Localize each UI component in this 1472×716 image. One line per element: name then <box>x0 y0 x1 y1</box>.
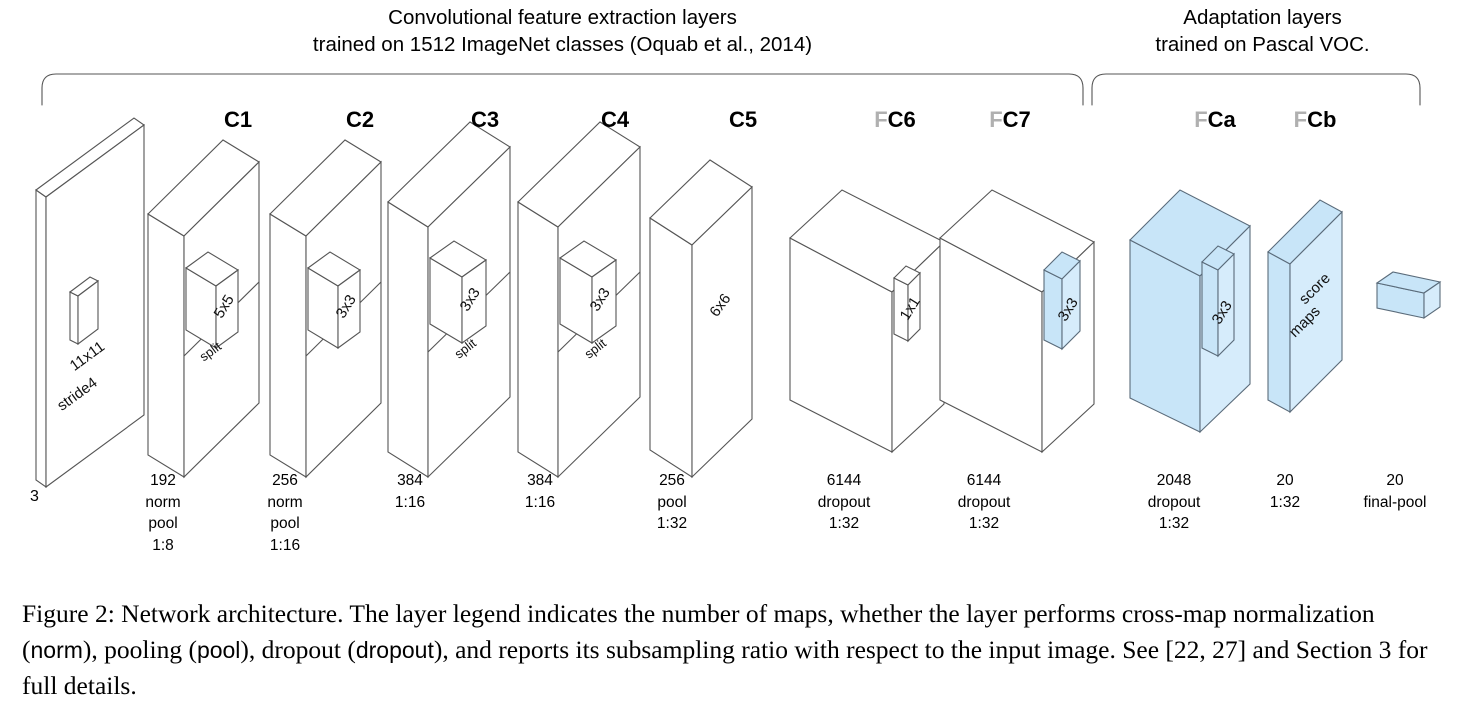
conv-header-line1: Convolutional feature extraction layers <box>290 4 835 31</box>
layer-legend-final: 20 final-pool <box>1345 470 1445 513</box>
layer-label-c1-text: C1 <box>224 107 252 132</box>
layer-slab-c1: 5x5 split <box>148 140 259 477</box>
layer-legend-c4: 384 1:16 <box>508 470 572 513</box>
input-plane: 11x11 stride4 <box>36 118 144 487</box>
layer-label-c1: C1 <box>208 107 268 133</box>
layer-label-fc6-text: C6 <box>888 107 916 132</box>
layer-slab-c2: 3x3 <box>270 140 381 477</box>
layer-legend-fca: 2048 dropout 1:32 <box>1135 470 1213 535</box>
layer-label-c5: C5 <box>713 107 773 133</box>
group-header-adapt: Adaptation layers trained on Pascal VOC. <box>1115 4 1410 58</box>
layer-label-fcb-prefix: F <box>1294 107 1307 132</box>
layer-label-fca-text: Ca <box>1208 107 1236 132</box>
caption-part3: ), dropout ( <box>240 635 355 664</box>
caption-norm: norm <box>31 637 83 663</box>
layer-legend-fcb: 20 1:32 <box>1253 470 1317 513</box>
layer-slab-c5: 6x6 <box>650 160 752 477</box>
final-pool-box <box>1377 272 1440 318</box>
layer-label-c3-text: C3 <box>471 107 499 132</box>
brace-conv-group <box>42 74 1083 105</box>
network-architecture-diagram: .s { stroke:#555; stroke-width:1.1; fill… <box>0 0 1472 600</box>
layer-legend-c3: 384 1:16 <box>378 470 442 513</box>
layer-legend-fc7: 6144 dropout 1:32 <box>945 470 1023 535</box>
layer-label-c3: C3 <box>455 107 515 133</box>
layer-slab-fca: 3x3 <box>1130 190 1250 432</box>
layer-legend-c1: 192 norm pool 1:8 <box>133 470 193 556</box>
layer-label-c2: C2 <box>330 107 390 133</box>
layer-legend-fc6: 6144 dropout 1:32 <box>805 470 883 535</box>
caption-pool: pool <box>197 637 240 663</box>
layer-slab-fc7: 3x3 <box>940 190 1094 452</box>
layer-label-c4-text: C4 <box>601 107 629 132</box>
layer-label-fcb-text: Cb <box>1307 107 1336 132</box>
layer-label-c2-text: C2 <box>346 107 374 132</box>
layer-slab-fc6: 1x1 <box>790 190 944 452</box>
layer-legend-c5: 256 pool 1:32 <box>640 470 704 535</box>
layer-slab-fcb: score maps <box>1268 200 1342 412</box>
layer-label-fc7-text: C7 <box>1003 107 1031 132</box>
figure-caption: Figure 2: Network architecture. The laye… <box>22 596 1452 704</box>
figure-root: .s { stroke:#555; stroke-width:1.1; fill… <box>0 0 1472 716</box>
layer-slab-c4: 3x3 split <box>518 122 640 477</box>
layer-label-fca: FCa <box>1180 107 1250 133</box>
layer-label-fcb: FCb <box>1280 107 1350 133</box>
adapt-header-line2: trained on Pascal VOC. <box>1115 31 1410 58</box>
group-header-conv: Convolutional feature extraction layers … <box>290 4 835 58</box>
caption-part2: ), pooling ( <box>83 635 197 664</box>
layer-label-fca-prefix: F <box>1194 107 1207 132</box>
layer-label-fc6: FC6 <box>860 107 930 133</box>
adapt-header-line1: Adaptation layers <box>1115 4 1410 31</box>
layer-legend-c2: 256 norm pool 1:16 <box>255 470 315 556</box>
layer-label-c4: C4 <box>585 107 645 133</box>
caption-dropout: dropout <box>356 637 434 663</box>
conv-header-line2: trained on 1512 ImageNet classes (Oquab … <box>290 31 835 58</box>
brace-adapt-group <box>1092 74 1420 105</box>
layer-label-fc6-prefix: F <box>874 107 887 132</box>
layer-label-fc7: FC7 <box>975 107 1045 133</box>
layer-label-fc7-prefix: F <box>989 107 1002 132</box>
layer-slab-c3: 3x3 split <box>388 122 510 477</box>
layer-label-c5-text: C5 <box>729 107 757 132</box>
input-channels-label: 3 <box>30 488 39 506</box>
